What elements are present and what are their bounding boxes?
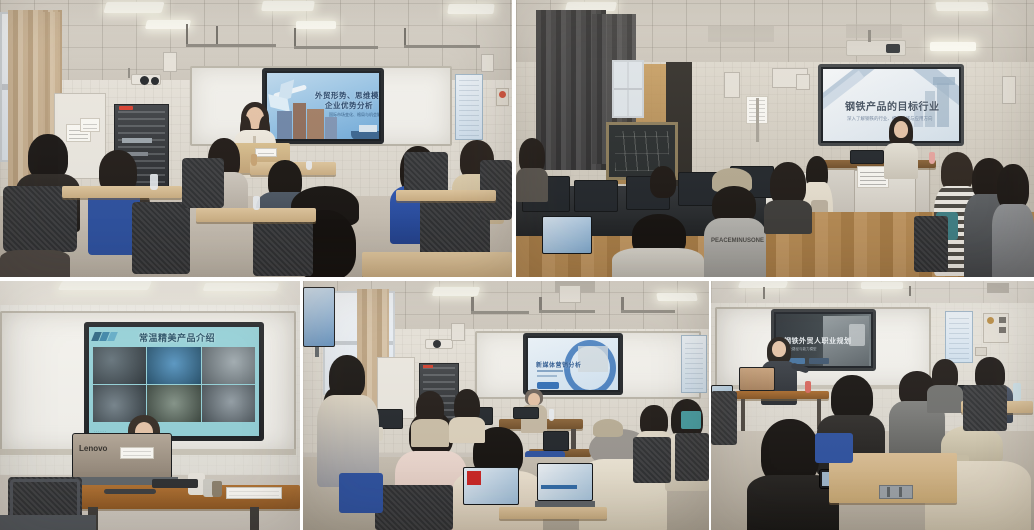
chair bbox=[675, 433, 709, 481]
laptop bbox=[850, 150, 884, 166]
wall-poster bbox=[455, 74, 483, 140]
wall-poster bbox=[945, 311, 973, 363]
slide-bottom-middle: 新媒体营销分析 bbox=[528, 338, 618, 390]
student bbox=[0, 250, 70, 277]
chair bbox=[711, 391, 737, 445]
chair bbox=[253, 214, 313, 276]
ceiling-light bbox=[296, 21, 336, 29]
lenovo-logo: Lenovo bbox=[79, 444, 107, 453]
chair bbox=[815, 433, 853, 463]
chair bbox=[132, 202, 190, 274]
ceiling-light bbox=[447, 4, 494, 14]
student: PEACEMINUSONE bbox=[704, 186, 766, 277]
jacket-text: PEACEMINUSONE bbox=[711, 238, 764, 244]
water-bottle bbox=[253, 196, 260, 210]
wall-speaker bbox=[163, 52, 177, 72]
wall-speaker bbox=[481, 54, 494, 72]
wall-speaker bbox=[1002, 76, 1016, 104]
laptop-sticker bbox=[120, 447, 154, 459]
slide-title: 钢铁产品的目标行业 bbox=[845, 98, 940, 113]
product-photo bbox=[202, 385, 255, 422]
student bbox=[764, 162, 812, 228]
water-bottle bbox=[805, 381, 811, 393]
paper bbox=[226, 487, 282, 499]
student bbox=[646, 166, 680, 210]
notice-paper bbox=[80, 118, 100, 132]
slide-subtitle: 国际市场变化、格局与机会解读 bbox=[329, 112, 379, 118]
student bbox=[449, 389, 485, 439]
ceiling-light bbox=[656, 293, 697, 301]
collage-photo-top-right: 钢铁产品的目标行业 深入了解钢铁的行业、细分领域与应用方向 bbox=[516, 0, 1034, 277]
laptop bbox=[463, 467, 519, 511]
student bbox=[516, 138, 548, 194]
chair bbox=[633, 437, 671, 483]
ceiling-light bbox=[261, 1, 315, 11]
collage-photo-bottom-middle: 新媒体营销分析 bbox=[303, 281, 709, 530]
laptop bbox=[513, 407, 539, 421]
cap bbox=[593, 419, 623, 437]
water-bottle bbox=[549, 409, 554, 421]
ceiling-light bbox=[935, 2, 989, 11]
student bbox=[992, 164, 1034, 277]
presentation-screen: 外贸形势、思维模式与 企业优势分析 国际市场变化、格局与机会解读 bbox=[262, 68, 384, 144]
water-bottle bbox=[150, 174, 158, 190]
product-photo bbox=[147, 347, 200, 384]
student-table bbox=[499, 507, 607, 519]
chair bbox=[963, 385, 1007, 431]
student-table bbox=[362, 252, 512, 277]
ceiling-light bbox=[432, 287, 481, 296]
ceiling-light bbox=[861, 282, 903, 289]
wall-speaker bbox=[724, 72, 740, 98]
chair bbox=[339, 473, 383, 513]
student-table bbox=[196, 208, 316, 222]
student-table bbox=[62, 186, 182, 198]
chair bbox=[375, 485, 453, 530]
collage-photo-top-left: 外贸形势、思维模式与 企业优势分析 国际市场变化、格局与机会解读 bbox=[0, 0, 512, 277]
presenter bbox=[884, 116, 918, 172]
window bbox=[612, 60, 644, 118]
product-photo bbox=[93, 347, 146, 384]
monitor bbox=[542, 216, 592, 254]
wall-monitor bbox=[303, 287, 335, 347]
wall-speaker bbox=[796, 74, 810, 90]
collage-photo-bottom-left: 常温精美产品介绍 · · · · · · bbox=[0, 281, 300, 530]
slide-title: 新媒体营销分析 bbox=[536, 360, 582, 369]
student bbox=[317, 355, 379, 485]
wall-speaker bbox=[451, 323, 465, 341]
monitor bbox=[574, 180, 618, 212]
presentation-display: 常温精美产品介绍 · · · · · · bbox=[84, 322, 264, 441]
ceiling-light bbox=[930, 42, 976, 51]
slide-title-line2: 企业优势分析 bbox=[325, 100, 373, 111]
ceiling-light bbox=[203, 283, 280, 291]
laptop-lid bbox=[543, 431, 569, 451]
water-bottle bbox=[1013, 383, 1021, 401]
product-photo bbox=[202, 347, 255, 384]
slide-bottom-left: 常温精美产品介绍 · · · · · · bbox=[89, 327, 259, 436]
chair bbox=[914, 216, 948, 272]
collage-photo-bottom-right: 钢铁外贸人职业规划 从业路径与能力模型 bbox=[711, 281, 1034, 530]
ceiling-light bbox=[103, 2, 164, 13]
name-card bbox=[255, 148, 277, 157]
photo-collage: 外贸形势、思维模式与 企业优势分析 国际市场变化、格局与机会解读 bbox=[0, 0, 1034, 530]
wall-poster bbox=[681, 335, 707, 393]
product-photo-grid bbox=[93, 347, 255, 422]
jar bbox=[212, 481, 222, 497]
student bbox=[612, 214, 704, 277]
presentation-screen: 新媒体营销分析 bbox=[523, 333, 623, 395]
student bbox=[927, 359, 963, 409]
student-table bbox=[396, 190, 496, 201]
slide-title: 常温精美产品介绍 bbox=[139, 331, 215, 344]
chair bbox=[182, 158, 224, 208]
front-desk bbox=[735, 391, 829, 399]
ceiling-light bbox=[58, 281, 152, 290]
slide-top-left: 外贸形势、思维模式与 企业优势分析 国际市场变化、格局与机会解读 bbox=[267, 73, 379, 139]
student bbox=[411, 391, 449, 443]
wall-speaker bbox=[559, 285, 581, 303]
ceiling-light bbox=[145, 20, 191, 29]
